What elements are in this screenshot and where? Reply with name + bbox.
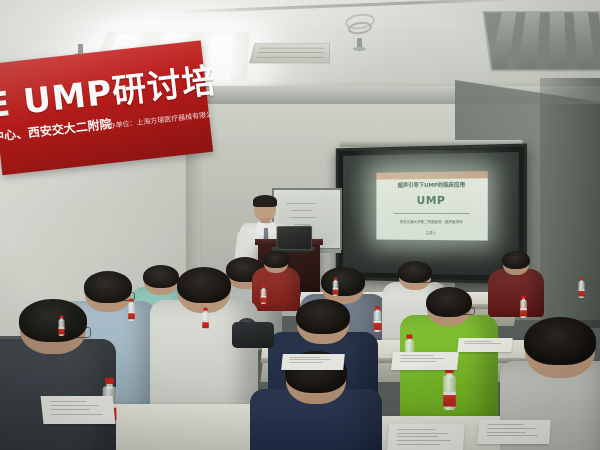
document-line [50, 405, 98, 406]
presentation-slide: 超声引导下UMP的临床应用 UMP 西安交通大学第二附属医院 · 超声医学科 主… [376, 171, 487, 241]
handout-document [477, 420, 551, 444]
document-line [465, 341, 492, 342]
classroom-photo: E UMP研讨培训班 中心、西安交大二附院 协办单位：上海方瑞医疗器械有限公司 … [0, 0, 600, 450]
audience-member-hair [321, 267, 365, 296]
water-bottle [520, 296, 527, 318]
handout-document [281, 354, 345, 370]
document-line [398, 429, 436, 430]
document-line [290, 359, 332, 360]
water-bottle [261, 286, 267, 304]
document-line [487, 428, 535, 429]
document-line [487, 432, 526, 433]
laptop-screen [277, 226, 312, 250]
bottle-cap [407, 335, 413, 339]
audience-member-hair [177, 267, 231, 303]
bottle-cap [375, 306, 380, 310]
document-line [487, 424, 523, 425]
event-banner: E UMP研讨培训班 中心、西安交大二附院 协办单位：上海方瑞医疗器械有限公司 [0, 40, 213, 175]
water-bottle [58, 316, 64, 336]
document-line [397, 436, 438, 437]
bottle-label-stripe [578, 289, 584, 291]
handout-document [391, 352, 459, 370]
audience-member-hair [502, 251, 530, 269]
slide-divider [394, 213, 470, 214]
bottle-label-stripe [128, 311, 135, 313]
bottle-cap [334, 278, 338, 281]
bottle-cap [262, 286, 266, 289]
bottle-cap [129, 299, 133, 302]
bottle-label-stripe [374, 321, 382, 323]
document-line [400, 355, 433, 356]
water-bottle [202, 308, 209, 330]
glasses-icon [454, 307, 474, 315]
slide-footer: 主讲人 [376, 230, 487, 236]
water-bottle [374, 307, 382, 332]
bottle-label-stripe [443, 392, 456, 395]
handout-document [41, 396, 116, 424]
water-bottle [128, 299, 135, 321]
louver-blade [518, 11, 541, 71]
document-line [397, 433, 448, 434]
bottle-cap [60, 316, 64, 319]
document-line [290, 357, 321, 358]
sprinkler-icon [357, 38, 362, 50]
water-bottle [578, 278, 584, 298]
bottle-label-stripe [333, 288, 339, 290]
louver-blade [487, 11, 517, 71]
bottle-cap [203, 308, 207, 311]
camera-bag [232, 322, 274, 348]
water-bottle [333, 278, 339, 296]
document-line [400, 358, 444, 359]
slide-subtitle: 西安交通大学第二附属医院 · 超声医学科 [376, 220, 487, 225]
glasses-icon [255, 205, 275, 210]
document-line [50, 401, 86, 402]
bottle-cap [521, 296, 525, 299]
slide-title: 超声引导下UMP的临床应用 [376, 180, 487, 189]
louver-blade [597, 11, 600, 71]
document-line [397, 444, 441, 445]
louver-blade [549, 11, 567, 71]
document-line [486, 435, 537, 436]
slide-logo: UMP [376, 194, 487, 208]
handout-document [387, 424, 465, 450]
bottle-cap [580, 278, 584, 281]
glasses-icon [61, 327, 91, 338]
document-line [397, 440, 451, 441]
bottle-label-stripe [58, 327, 64, 329]
document-line [400, 361, 436, 362]
document-line [51, 414, 102, 415]
air-vent [249, 43, 330, 63]
audience-member-torso [0, 339, 116, 450]
water-bottle [443, 369, 456, 410]
handout-document [457, 338, 512, 352]
bottle-label-stripe [202, 320, 209, 322]
document-line [51, 409, 90, 410]
document-line [289, 362, 323, 363]
audience-member-hair [296, 299, 350, 334]
document-line [465, 343, 501, 344]
bottle-cap [105, 378, 114, 384]
right-wall-shadow [540, 78, 600, 328]
ceiling-light-off [483, 11, 600, 71]
slide-accent-band [376, 171, 487, 180]
bottle-label-stripe [520, 308, 527, 310]
louver-blade [573, 11, 597, 71]
audience-member-hair [524, 317, 596, 365]
glasses-icon [419, 276, 434, 283]
audience-member-hair [263, 251, 289, 268]
bottle-label-stripe [261, 296, 267, 298]
